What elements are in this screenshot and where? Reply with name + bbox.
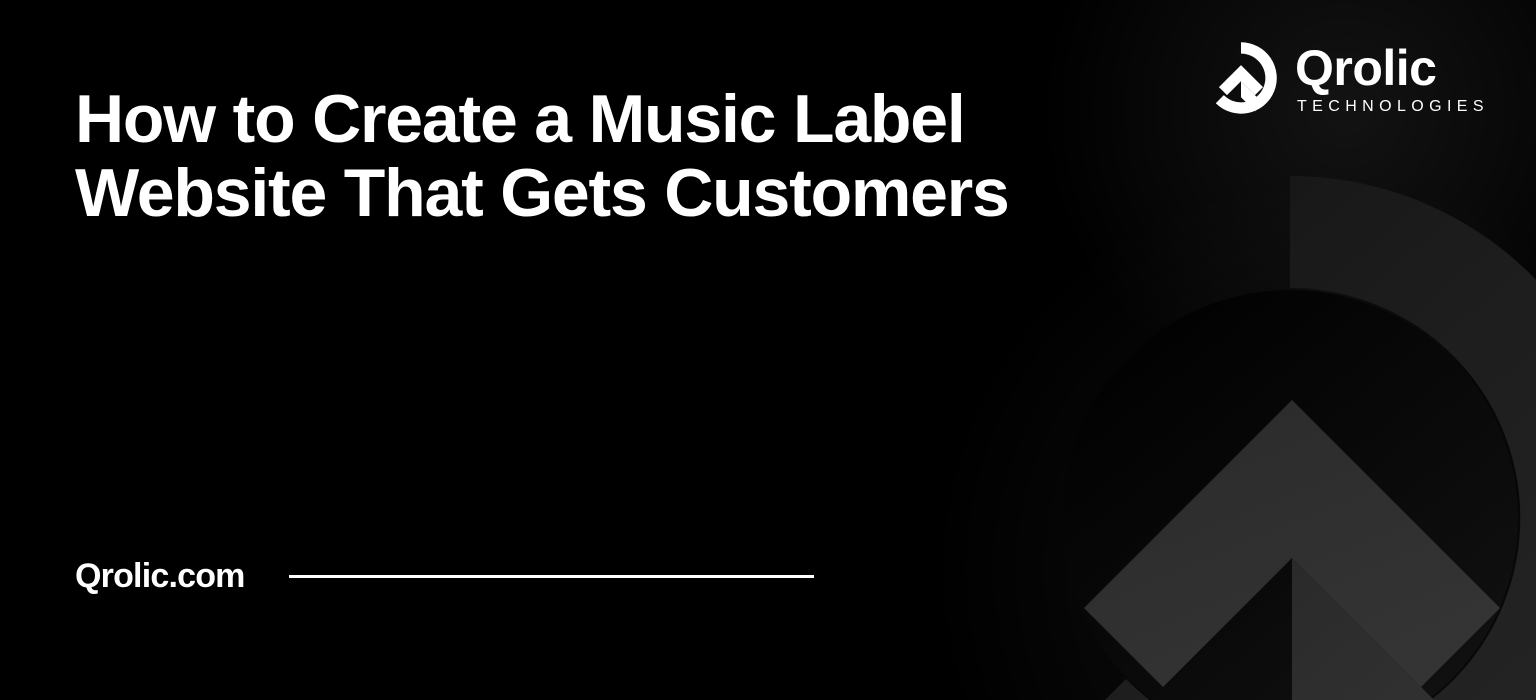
brand-name: Qrolic — [1295, 44, 1436, 93]
qrolic-ring-chevron-icon — [1203, 40, 1279, 116]
footer-divider — [289, 575, 814, 578]
brand-wordmark: Qrolic TECHNOLOGIES — [1295, 42, 1489, 115]
bottom-right-glow — [936, 180, 1536, 700]
qrolic-ring-chevron-watermark-icon — [940, 168, 1536, 700]
blog-banner: Qrolic TECHNOLOGIES How to Create a Musi… — [0, 0, 1536, 700]
site-url[interactable]: Qrolic.com — [75, 556, 245, 596]
page-title-line-2: Website That Gets Customers — [75, 156, 1135, 230]
page-title-line-1: How to Create a Music Label — [75, 82, 1135, 156]
page-title: How to Create a Music Label Website That… — [75, 82, 1135, 230]
brand-logo[interactable]: Qrolic TECHNOLOGIES — [1203, 40, 1489, 116]
brand-tagline: TECHNOLOGIES — [1295, 99, 1489, 115]
footer: Qrolic.com — [75, 556, 814, 596]
